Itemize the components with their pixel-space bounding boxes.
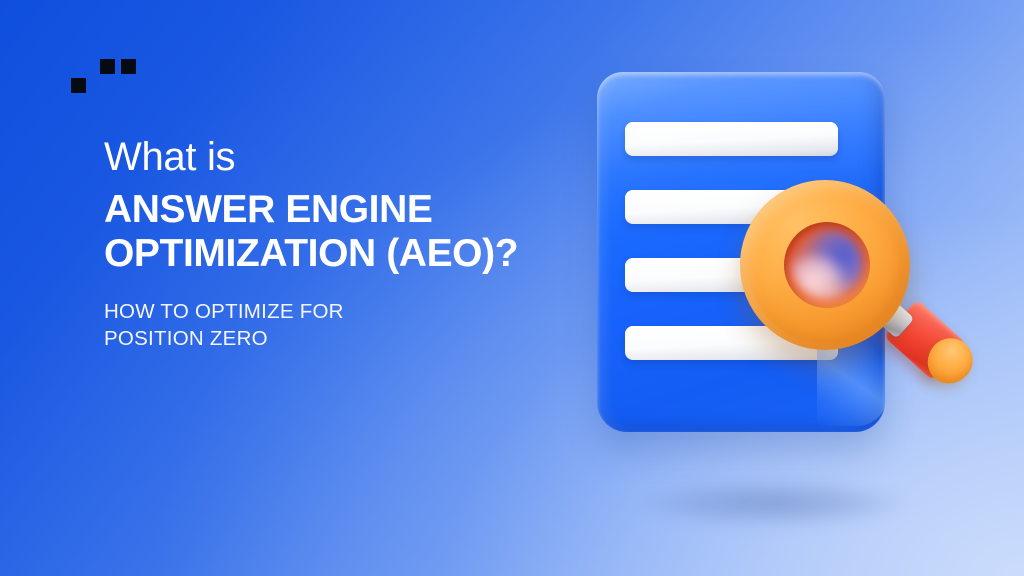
kicker-text: What is xyxy=(104,136,574,178)
magnifier-lens-content xyxy=(791,229,863,301)
banner-text-block: What is ANSWER ENGINE OPTIMIZATION (AEO)… xyxy=(104,136,574,353)
subheading-line-2: POSITION ZERO xyxy=(104,325,574,353)
square-top-right-icon xyxy=(100,59,115,74)
magnifying-glass-icon xyxy=(740,180,960,400)
headline-line-2: OPTIMIZATION (AEO)? xyxy=(104,232,574,276)
square-lower-left-icon xyxy=(71,78,86,93)
document-text-line xyxy=(625,122,838,156)
page-title: ANSWER ENGINE OPTIMIZATION (AEO)? xyxy=(104,188,574,276)
headline-line-1: ANSWER ENGINE xyxy=(104,188,574,232)
banner-canvas: What is ANSWER ENGINE OPTIMIZATION (AEO)… xyxy=(0,0,1024,576)
magnifier-lens-rim xyxy=(784,222,870,308)
subheading-line-1: HOW TO OPTIMIZE FOR xyxy=(104,298,574,326)
document-drop-shadow xyxy=(640,480,905,526)
subheading: HOW TO OPTIMIZE FOR POSITION ZERO xyxy=(104,298,574,354)
square-top-far-right-icon xyxy=(121,59,136,74)
magnifier-ring xyxy=(740,180,910,350)
document-magnifier-illustration xyxy=(560,40,1000,530)
